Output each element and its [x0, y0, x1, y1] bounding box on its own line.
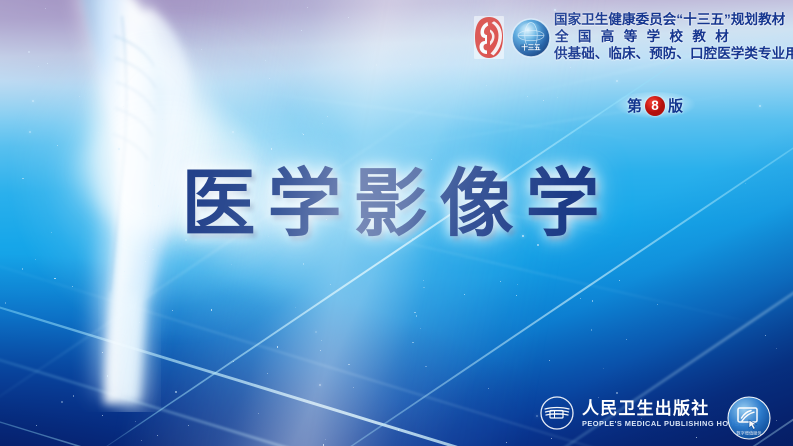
book-cover: 十三五 国家卫生健康委员会“十三五”规划教材 全国高等学校教材 供基础、临床、预…	[0, 0, 793, 446]
diagonal-light-sweep-soft	[0, 0, 793, 446]
